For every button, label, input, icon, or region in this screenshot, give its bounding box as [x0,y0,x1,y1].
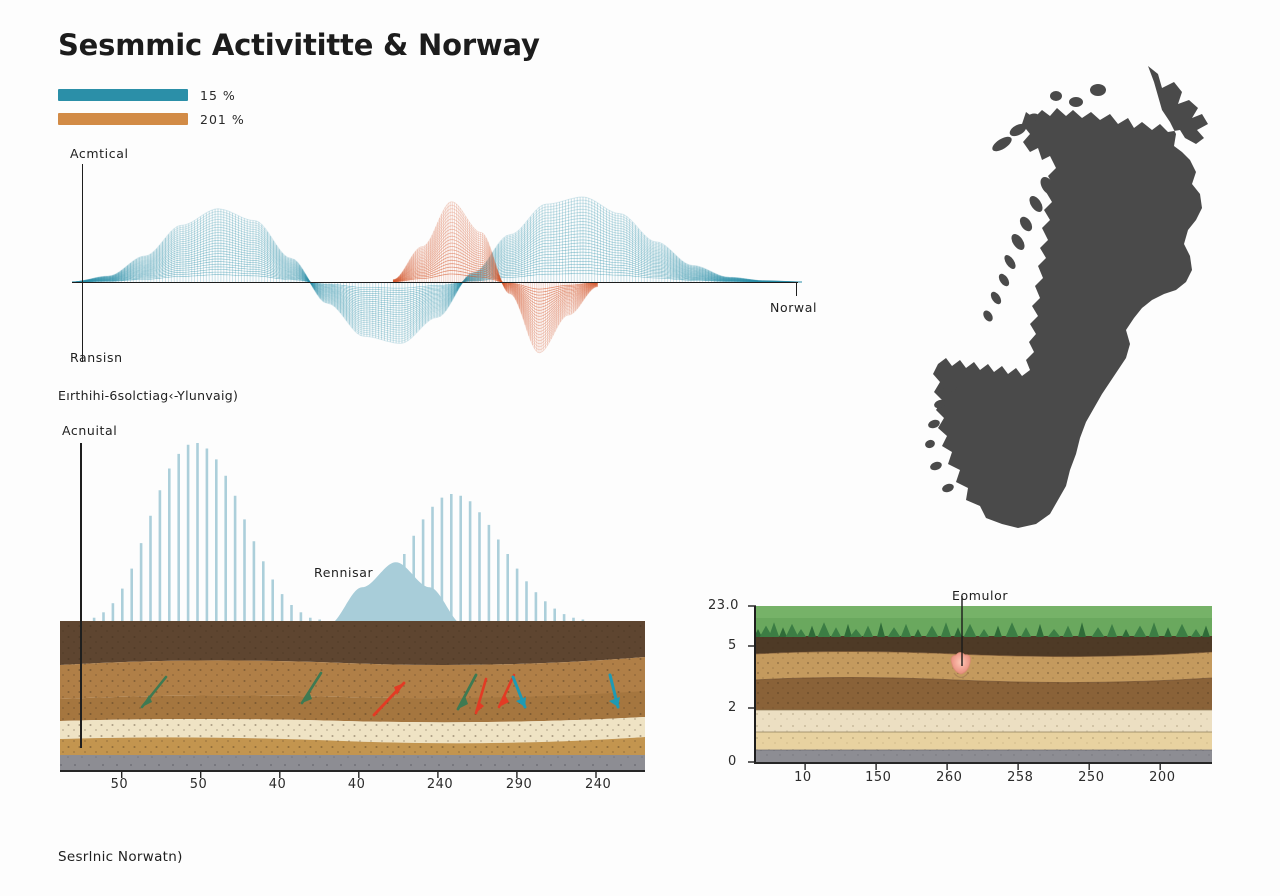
legend-swatch-teal [58,89,188,101]
norway-map-svg [890,52,1230,572]
histogram-y-axis [80,443,82,748]
waveform-x-axis [72,282,798,283]
histogram-x-tick-2: 40 [269,777,287,792]
histogram-chart: Acnuital Rennisar 50504040240290240 [44,425,654,785]
cross-section-x-tick-2: 260 [936,770,962,785]
waveform-x-end-tick [796,282,797,296]
cross-section-x-axis [754,762,1212,764]
histogram-x-tick-1: 50 [190,777,208,792]
cross-section-y-axis [754,606,756,762]
waveform-y-axis [82,164,83,362]
legend-item-orange[interactable]: 201 % [58,110,245,128]
epicenter-label: Eomulor [952,588,1008,603]
histogram-x-tick-4: 240 [427,777,453,792]
cross-section-y-tick-3: 0 [728,754,737,769]
rennisar-label: Rennisar [314,565,373,580]
cross-section-x-tick-5: 200 [1149,770,1175,785]
legend-item-teal[interactable]: 15 % [58,86,245,104]
footer-caption: Sesrlnic Norwatn) [58,849,183,865]
histogram-x-axis [60,770,645,772]
cross-section-x-tick-3: 258 [1007,770,1033,785]
epicenter-marker [951,653,970,678]
waveform-x-end-label: Norwal [770,300,817,315]
histogram-plot [44,425,654,785]
legend-swatch-orange [58,113,188,125]
cross-section-y-tick-0: 23.0 [708,598,739,613]
histogram-x-tick-0: 50 [111,777,129,792]
cross-section-chart: Eomulor 23.0520 10150260258250200 [706,590,1226,790]
histogram-x-tick-3: 40 [348,777,366,792]
cross-section-x-tick-4: 250 [1078,770,1104,785]
histogram-y-label: Acnuital [62,423,117,438]
histogram-x-tick-5: 290 [506,777,532,792]
cross-section-y-tick-2: 2 [728,700,737,715]
strata-block [60,621,645,770]
waveform-y-bottom-label: Ransisn [70,350,123,365]
page-canvas: Sesmmic Activititte & Norway 15 % 201 % … [0,0,1280,896]
legend-label-orange: 201 % [200,112,245,127]
cross-section-x-tick-1: 150 [865,770,891,785]
norway-map [890,52,1230,572]
cross-layers [754,606,1212,762]
cross-section-x-tick-0: 10 [794,770,812,785]
waveform-y-top-label: Acmtical [70,146,129,161]
cross-section-y-tick-1: 5 [728,638,737,653]
legend-label-teal: 15 % [200,88,236,103]
histogram-x-tick-6: 240 [585,777,611,792]
waveform-caption: Eırthihi-6solctiag‹-Ylunvaig) [58,388,238,403]
legend: 15 % 201 % [58,86,245,134]
cross-section-plot [706,590,1226,790]
page-title: Sesmmic Activititte & Norway [58,28,540,62]
waveform-chart: Acmtical Ransisn Norwal [58,150,848,380]
waveform-plot [58,150,848,380]
